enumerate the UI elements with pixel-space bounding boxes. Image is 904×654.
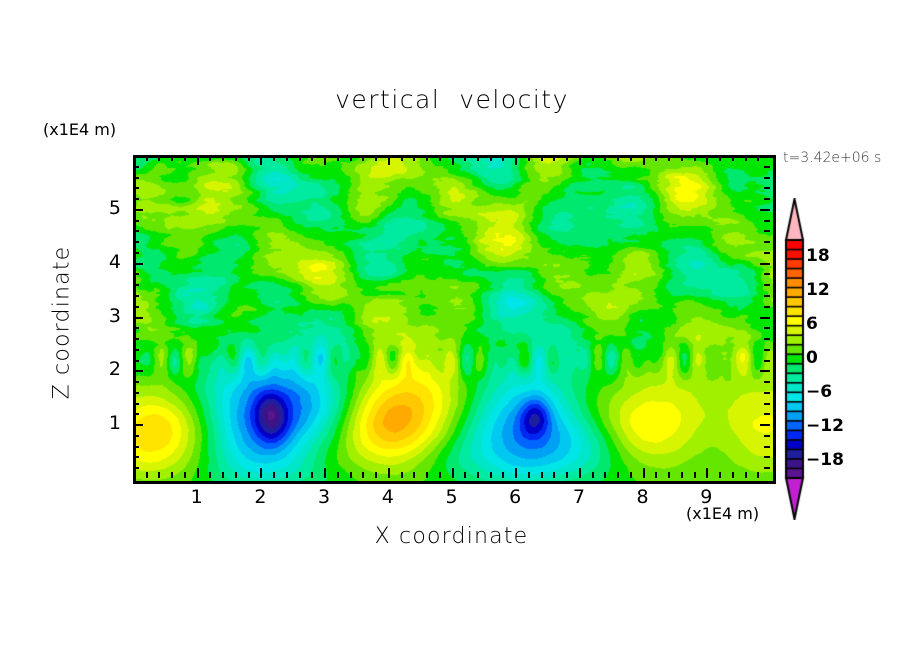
x-major-tick-top <box>515 155 517 165</box>
x-minor-tick-top <box>464 155 466 161</box>
x-major-tick <box>706 468 708 478</box>
y-tick-label: 5 <box>91 197 121 219</box>
x-minor-tick-top <box>694 155 696 161</box>
x-axis-title: X coordinate <box>133 524 770 549</box>
y-minor-tick-right <box>764 295 770 297</box>
y-minor-tick <box>133 220 139 222</box>
x-minor-tick <box>248 472 250 478</box>
y-minor-tick <box>133 360 139 362</box>
y-major-tick <box>133 263 143 265</box>
y-major-tick-right <box>760 424 770 426</box>
x-minor-tick <box>401 472 403 478</box>
x-tick-label: 9 <box>691 486 721 508</box>
x-minor-tick <box>184 472 186 478</box>
x-minor-tick <box>668 472 670 478</box>
x-minor-tick-top <box>209 155 211 161</box>
x-minor-tick-top <box>337 155 339 161</box>
x-minor-tick-top <box>502 155 504 161</box>
x-minor-tick-top <box>401 155 403 161</box>
y-minor-tick-right <box>764 349 770 351</box>
colorbar-label: −6 <box>806 382 832 402</box>
y-minor-tick <box>133 446 139 448</box>
y-minor-tick-right <box>764 403 770 405</box>
y-minor-tick-right <box>764 187 770 189</box>
y-minor-tick <box>133 177 139 179</box>
y-major-tick-right <box>760 209 770 211</box>
x-minor-tick <box>146 472 148 478</box>
y-tick-label: 1 <box>91 412 121 434</box>
x-minor-tick <box>464 472 466 478</box>
x-minor-tick-top <box>732 155 734 161</box>
x-minor-tick <box>311 472 313 478</box>
y-major-tick-right <box>760 317 770 319</box>
x-major-tick-top <box>388 155 390 165</box>
y-major-tick <box>133 209 143 211</box>
x-tick-label: 2 <box>245 486 275 508</box>
x-minor-tick-top <box>541 155 543 161</box>
y-minor-tick-right <box>764 435 770 437</box>
x-minor-tick <box>299 472 301 478</box>
y-minor-tick-right <box>764 252 770 254</box>
x-minor-tick-top <box>286 155 288 161</box>
x-minor-tick-top <box>273 155 275 161</box>
y-major-tick-right <box>760 263 770 265</box>
y-minor-tick <box>133 392 139 394</box>
y-minor-tick <box>133 198 139 200</box>
x-minor-tick <box>719 472 721 478</box>
x-major-tick <box>579 468 581 478</box>
y-minor-tick <box>133 338 139 340</box>
x-minor-tick-top <box>426 155 428 161</box>
colorbar-tick-labels: 181260−6−12−18 <box>806 198 876 520</box>
page-title: vertical velocity <box>0 85 904 114</box>
y-minor-tick-right <box>764 284 770 286</box>
y-minor-tick <box>133 349 139 351</box>
x-minor-tick <box>592 472 594 478</box>
y-minor-tick <box>133 327 139 329</box>
x-tick-label: 3 <box>309 486 339 508</box>
y-minor-tick-right <box>764 273 770 275</box>
x-minor-tick-top <box>350 155 352 161</box>
y-axis-title: Z coordinate <box>50 223 75 423</box>
x-minor-tick-top <box>158 155 160 161</box>
y-axis-unit-label: (x1E4 m) <box>43 120 116 139</box>
x-minor-tick-top <box>222 155 224 161</box>
y-minor-tick <box>133 403 139 405</box>
y-major-tick-right <box>760 370 770 372</box>
x-minor-tick-top <box>655 155 657 161</box>
x-tick-label: 5 <box>437 486 467 508</box>
y-minor-tick-right <box>764 198 770 200</box>
y-minor-tick-right <box>764 413 770 415</box>
x-minor-tick <box>439 472 441 478</box>
x-major-tick-top <box>706 155 708 165</box>
x-minor-tick <box>604 472 606 478</box>
y-minor-tick <box>133 295 139 297</box>
x-tick-label: 7 <box>564 486 594 508</box>
y-minor-tick-right <box>764 166 770 168</box>
y-minor-tick <box>133 306 139 308</box>
y-minor-tick-right <box>764 220 770 222</box>
x-minor-tick <box>362 472 364 478</box>
x-major-tick-top <box>197 155 199 165</box>
x-minor-tick-top <box>146 155 148 161</box>
x-major-tick <box>260 468 262 478</box>
x-minor-tick-top <box>311 155 313 161</box>
y-minor-tick-right <box>764 392 770 394</box>
x-tick-label: 8 <box>628 486 658 508</box>
x-minor-tick-top <box>528 155 530 161</box>
x-minor-tick-top <box>630 155 632 161</box>
y-minor-tick <box>133 413 139 415</box>
y-tick-label: 4 <box>91 251 121 273</box>
x-minor-tick-top <box>745 155 747 161</box>
y-minor-tick-right <box>764 467 770 469</box>
figure-canvas: vertical velocity (x1E4 m) (x1E4 m) t=3.… <box>0 0 904 654</box>
x-minor-tick <box>222 472 224 478</box>
x-minor-tick <box>273 472 275 478</box>
y-tick-label: 2 <box>91 358 121 380</box>
y-minor-tick-right <box>764 230 770 232</box>
y-minor-tick-right <box>764 456 770 458</box>
y-minor-tick <box>133 252 139 254</box>
x-minor-tick <box>286 472 288 478</box>
x-minor-tick <box>426 472 428 478</box>
x-minor-tick <box>541 472 543 478</box>
y-minor-tick-right <box>764 446 770 448</box>
x-minor-tick-top <box>757 155 759 161</box>
colorbar-label: 18 <box>806 246 830 266</box>
x-tick-label: 1 <box>182 486 212 508</box>
colorbar-label: −12 <box>806 416 844 436</box>
x-minor-tick-top <box>171 155 173 161</box>
x-minor-tick-top <box>566 155 568 161</box>
x-minor-tick-top <box>299 155 301 161</box>
x-minor-tick <box>209 472 211 478</box>
x-minor-tick <box>745 472 747 478</box>
x-minor-tick-top <box>604 155 606 161</box>
x-minor-tick <box>528 472 530 478</box>
y-minor-tick-right <box>764 360 770 362</box>
x-minor-tick <box>553 472 555 478</box>
y-tick-label: 3 <box>91 305 121 327</box>
y-minor-tick <box>133 273 139 275</box>
x-major-tick <box>324 468 326 478</box>
x-minor-tick-top <box>719 155 721 161</box>
x-minor-tick-top <box>681 155 683 161</box>
y-minor-tick <box>133 467 139 469</box>
x-minor-tick-top <box>235 155 237 161</box>
x-major-tick-top <box>324 155 326 165</box>
x-minor-tick-top <box>184 155 186 161</box>
y-minor-tick-right <box>764 306 770 308</box>
y-major-tick <box>133 370 143 372</box>
y-minor-tick <box>133 187 139 189</box>
x-major-tick-top <box>260 155 262 165</box>
x-minor-tick-top <box>592 155 594 161</box>
colorbar-label: −18 <box>806 450 844 470</box>
y-minor-tick <box>133 241 139 243</box>
x-major-tick <box>515 468 517 478</box>
x-minor-tick <box>235 472 237 478</box>
x-minor-tick-top <box>477 155 479 161</box>
x-minor-tick-top <box>553 155 555 161</box>
x-minor-tick <box>490 472 492 478</box>
x-minor-tick <box>681 472 683 478</box>
x-minor-tick <box>757 472 759 478</box>
x-minor-tick-top <box>413 155 415 161</box>
contour-plot-area <box>133 155 776 484</box>
x-minor-tick <box>477 472 479 478</box>
y-major-tick <box>133 317 143 319</box>
x-minor-tick <box>375 472 377 478</box>
y-minor-tick <box>133 230 139 232</box>
x-minor-tick-top <box>362 155 364 161</box>
x-minor-tick <box>732 472 734 478</box>
x-minor-tick <box>655 472 657 478</box>
x-major-tick-top <box>643 155 645 165</box>
y-minor-tick <box>133 435 139 437</box>
x-minor-tick <box>171 472 173 478</box>
x-major-tick-top <box>452 155 454 165</box>
x-minor-tick <box>337 472 339 478</box>
x-minor-tick <box>350 472 352 478</box>
x-minor-tick-top <box>617 155 619 161</box>
x-minor-tick <box>617 472 619 478</box>
x-tick-label: 4 <box>373 486 403 508</box>
y-minor-tick-right <box>764 241 770 243</box>
x-major-tick <box>643 468 645 478</box>
y-minor-tick-right <box>764 381 770 383</box>
y-minor-tick-right <box>764 327 770 329</box>
x-major-tick-top <box>579 155 581 165</box>
y-minor-tick <box>133 381 139 383</box>
colorbar-label: 12 <box>806 280 830 300</box>
y-minor-tick <box>133 456 139 458</box>
x-minor-tick-top <box>668 155 670 161</box>
x-minor-tick-top <box>439 155 441 161</box>
x-minor-tick <box>158 472 160 478</box>
y-minor-tick-right <box>764 177 770 179</box>
y-minor-tick-right <box>764 338 770 340</box>
y-major-tick <box>133 424 143 426</box>
x-tick-label: 6 <box>500 486 530 508</box>
x-major-tick <box>197 468 199 478</box>
colorbar-label: 6 <box>806 314 818 334</box>
y-minor-tick <box>133 166 139 168</box>
x-minor-tick-top <box>490 155 492 161</box>
y-minor-tick <box>133 284 139 286</box>
x-minor-tick <box>566 472 568 478</box>
x-minor-tick <box>630 472 632 478</box>
x-minor-tick <box>694 472 696 478</box>
x-minor-tick <box>502 472 504 478</box>
x-minor-tick-top <box>375 155 377 161</box>
x-minor-tick <box>413 472 415 478</box>
contour-field <box>136 158 773 481</box>
colorbar-label: 0 <box>806 348 818 368</box>
time-stamp-annotation: t=3.42e+06 s <box>783 150 881 166</box>
x-major-tick <box>452 468 454 478</box>
x-major-tick <box>388 468 390 478</box>
x-minor-tick-top <box>248 155 250 161</box>
